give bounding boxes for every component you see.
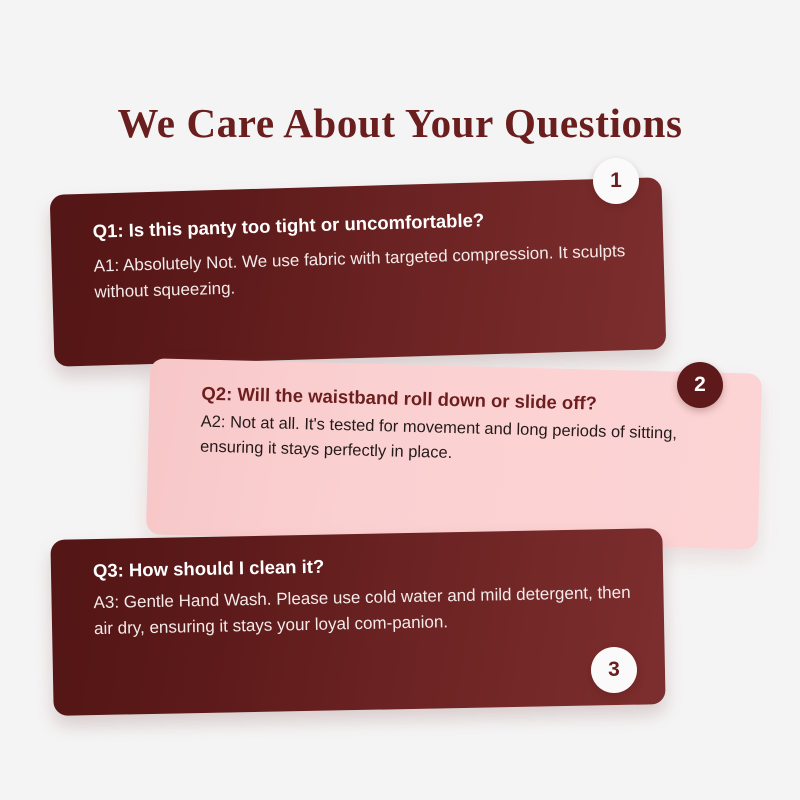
faq-badge-2: 2 xyxy=(677,362,723,408)
faq-answer-2: A2: Not at all. It's tested for movement… xyxy=(200,410,739,473)
faq-card-1-body: Q1: Is this panty too tight or uncomfort… xyxy=(92,204,636,306)
faq-card-1[interactable]: Q1: Is this panty too tight or uncomfort… xyxy=(50,177,667,367)
faq-badge-3: 3 xyxy=(591,647,637,693)
page-title: We Care About Your Questions xyxy=(0,99,800,147)
faq-answer-1: A1: Absolutely Not. We use fabric with t… xyxy=(93,238,636,306)
faq-page: We Care About Your Questions Q1: Is this… xyxy=(0,0,800,800)
faq-card-3[interactable]: Q3: How should I clean it? A3: Gentle Ha… xyxy=(50,528,665,716)
faq-question-1: Q1: Is this panty too tight or uncomfort… xyxy=(92,204,634,243)
faq-answer-3: A3: Gentle Hand Wash. Please use cold wa… xyxy=(93,580,642,642)
faq-card-2[interactable]: Q2: Will the waistband roll down or slid… xyxy=(146,358,762,549)
faq-card-3-body: Q3: How should I clean it? A3: Gentle Ha… xyxy=(93,549,642,642)
faq-badge-1: 1 xyxy=(593,158,639,204)
faq-card-2-body: Q2: Will the waistband roll down or slid… xyxy=(200,382,740,473)
faq-question-3: Q3: How should I clean it? xyxy=(93,549,641,583)
